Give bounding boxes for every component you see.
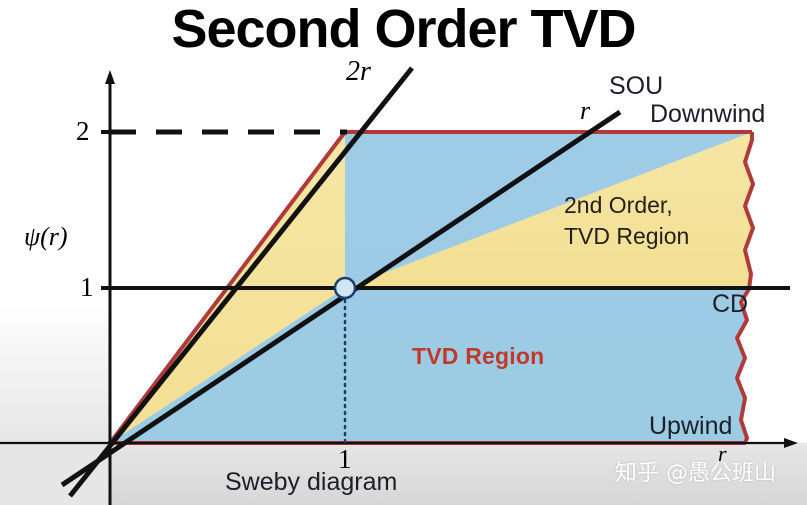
second-order-region-line1: 2nd Order,: [564, 190, 689, 221]
upwind-label: Upwind: [649, 412, 732, 441]
watermark: 知乎 @愚公班山: [615, 455, 776, 487]
second-order-region-label: 2nd Order, TVD Region: [564, 190, 689, 252]
y-axis-label: ψ(r): [24, 222, 68, 252]
y-axis-arrowhead: [105, 70, 115, 84]
x-axis-arrowhead: [784, 438, 798, 448]
y-tick-label-2: 2: [76, 116, 90, 147]
cd-label: CD: [712, 290, 748, 319]
tvd-region-label: TVD Region: [412, 343, 544, 370]
figure-caption: Sweby diagram: [225, 468, 397, 497]
sweby-diagram-figure: Second Order TVD: [0, 0, 807, 505]
sou-label: SOU: [609, 72, 663, 101]
y-tick-label-1: 1: [80, 272, 94, 303]
downwind-label: Downwind: [650, 100, 765, 129]
line-label-2r: 2r: [346, 56, 371, 88]
line-label-r: r: [580, 96, 590, 126]
second-order-region-line2: TVD Region: [564, 221, 689, 252]
point-marker-1-1[interactable]: [335, 278, 355, 298]
